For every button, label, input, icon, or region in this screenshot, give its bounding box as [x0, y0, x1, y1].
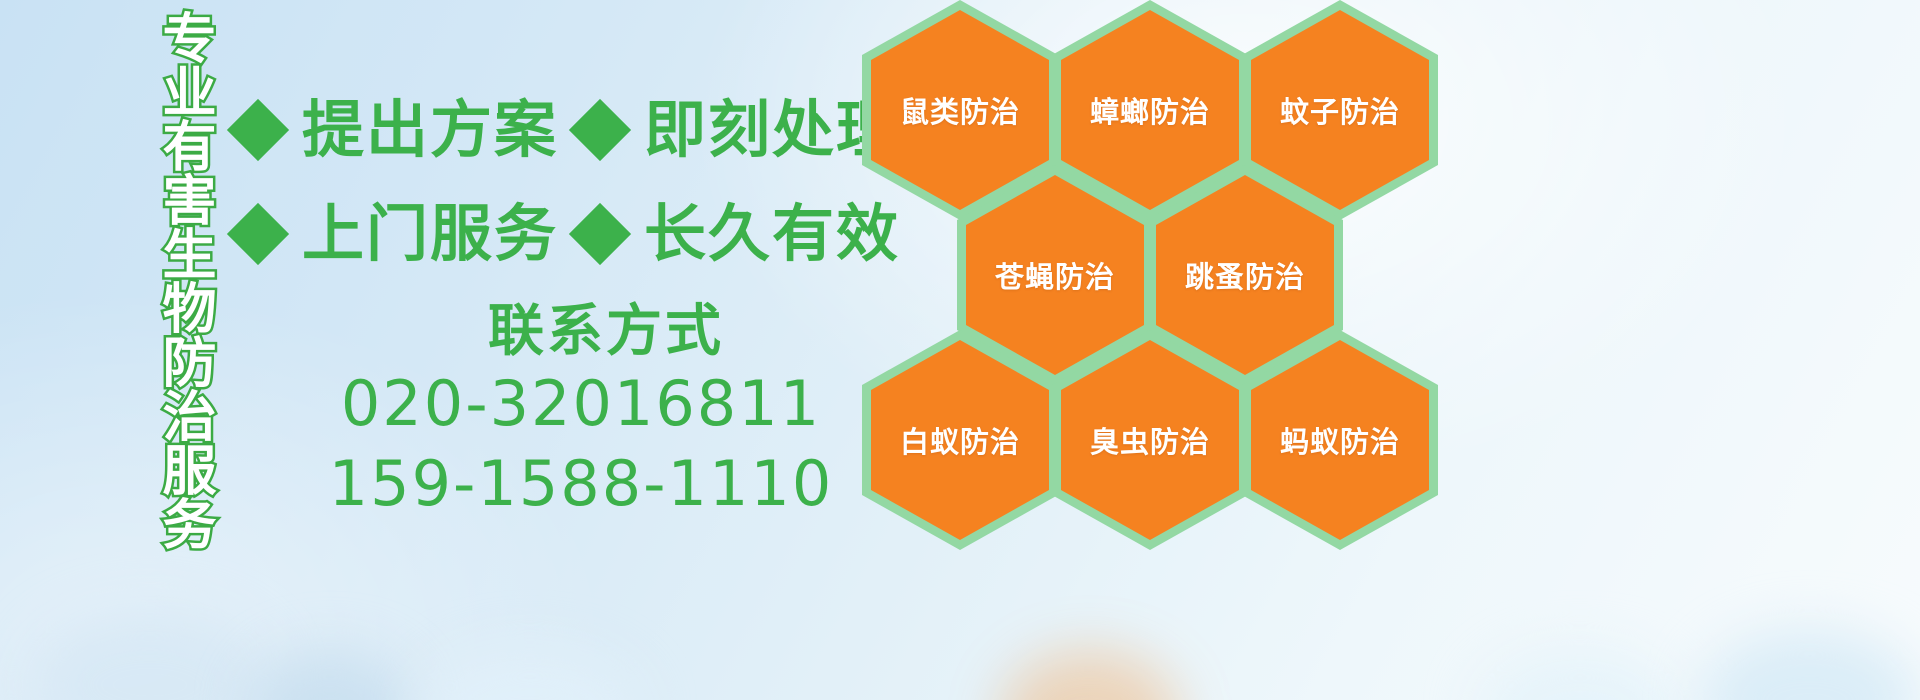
diamond-bullet-icon	[569, 99, 631, 161]
phone-number-landline[interactable]: 020-32016811	[236, 364, 856, 443]
bokeh-blob	[30, 610, 270, 700]
bokeh-blob	[1700, 630, 1920, 700]
hex-label: 跳蚤防治	[1185, 254, 1305, 296]
vertical-headline: 专业有害生物防治服务	[108, 10, 212, 550]
hex-label: 苍蝇防治	[995, 254, 1115, 296]
hex-label: 鼠类防治	[900, 89, 1020, 131]
diamond-bullet-icon	[569, 203, 631, 265]
phone-number-mobile[interactable]: 159-1588-1110	[236, 444, 856, 523]
bokeh-blob	[1000, 650, 1180, 700]
feature-list: 提出方案 即刻处理 上门服务 长久有效	[236, 78, 876, 286]
service-honeycomb: 鼠类防治 蟑螂防治 蚊子防治 苍蝇防治 跳蚤防治 白蚁防治 臭虫防治	[856, 0, 1476, 578]
feature-label: 提出方案	[302, 99, 558, 161]
bokeh-blob	[420, 650, 640, 700]
hex-label: 白蚁防治	[900, 419, 1020, 461]
hex-label: 蟑螂防治	[1090, 89, 1210, 131]
hex-label: 蚂蚁防治	[1280, 419, 1400, 461]
contact-heading: 联系方式	[236, 300, 856, 364]
contact-block: 联系方式 020-32016811 159-1588-1110	[236, 300, 856, 523]
feature-row: 上门服务 长久有效	[236, 182, 876, 286]
hex-label: 臭虫防治	[1090, 419, 1210, 461]
hex-label: 蚊子防治	[1280, 89, 1400, 131]
bokeh-blob	[250, 650, 410, 700]
feature-row: 提出方案 即刻处理	[236, 78, 876, 182]
feature-label: 上门服务	[302, 203, 558, 265]
diamond-bullet-icon	[227, 203, 289, 265]
pest-control-banner: 专业有害生物防治服务 提出方案 即刻处理 上门服务 长久有效 联系方式 020-…	[0, 0, 1920, 700]
bokeh-blob	[1480, 650, 1680, 700]
diamond-bullet-icon	[227, 99, 289, 161]
